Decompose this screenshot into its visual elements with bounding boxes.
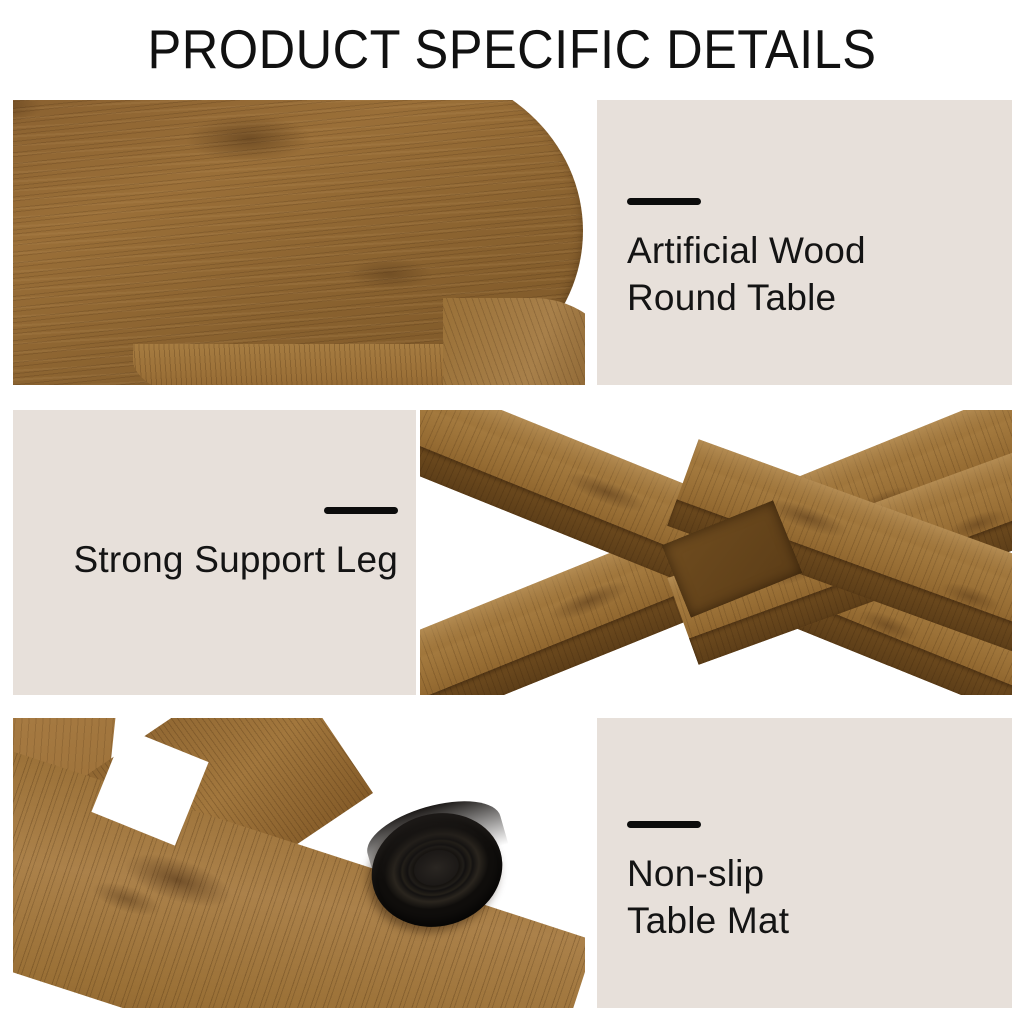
caption-rule-icon bbox=[627, 198, 701, 205]
caption-text-strong-support-leg: Strong Support Leg bbox=[13, 536, 398, 583]
feature-caption-panel-non-slip-table-mat: Non-slip Table Mat bbox=[597, 718, 1012, 1008]
caption-text-non-slip-table-mat: Non-slip Table Mat bbox=[627, 850, 789, 945]
table-top-rounded-edge bbox=[443, 298, 585, 385]
feature-photo-artificial-wood-round-table bbox=[13, 100, 585, 385]
feature-photo-non-slip-table-mat bbox=[13, 718, 585, 1008]
page-title: PRODUCT SPECIFIC DETAILS bbox=[41, 22, 983, 77]
caption-block-artificial-wood: Artificial Wood Round Table bbox=[627, 198, 866, 322]
caption-rule-icon bbox=[627, 821, 701, 828]
caption-text-artificial-wood: Artificial Wood Round Table bbox=[627, 227, 866, 322]
caption-block-non-slip-table-mat: Non-slip Table Mat bbox=[627, 821, 789, 945]
caption-block-strong-support-leg: Strong Support Leg bbox=[13, 507, 398, 583]
non-slip-mat-photo bbox=[13, 718, 585, 1008]
round-table-photo bbox=[13, 100, 585, 385]
cross-leg-photo bbox=[420, 410, 1012, 695]
caption-rule-icon bbox=[324, 507, 398, 514]
feature-photo-strong-support-leg bbox=[420, 410, 1012, 695]
feature-caption-panel-artificial-wood: Artificial Wood Round Table bbox=[597, 100, 1012, 385]
feature-caption-panel-strong-support-leg: Strong Support Leg bbox=[13, 410, 416, 695]
